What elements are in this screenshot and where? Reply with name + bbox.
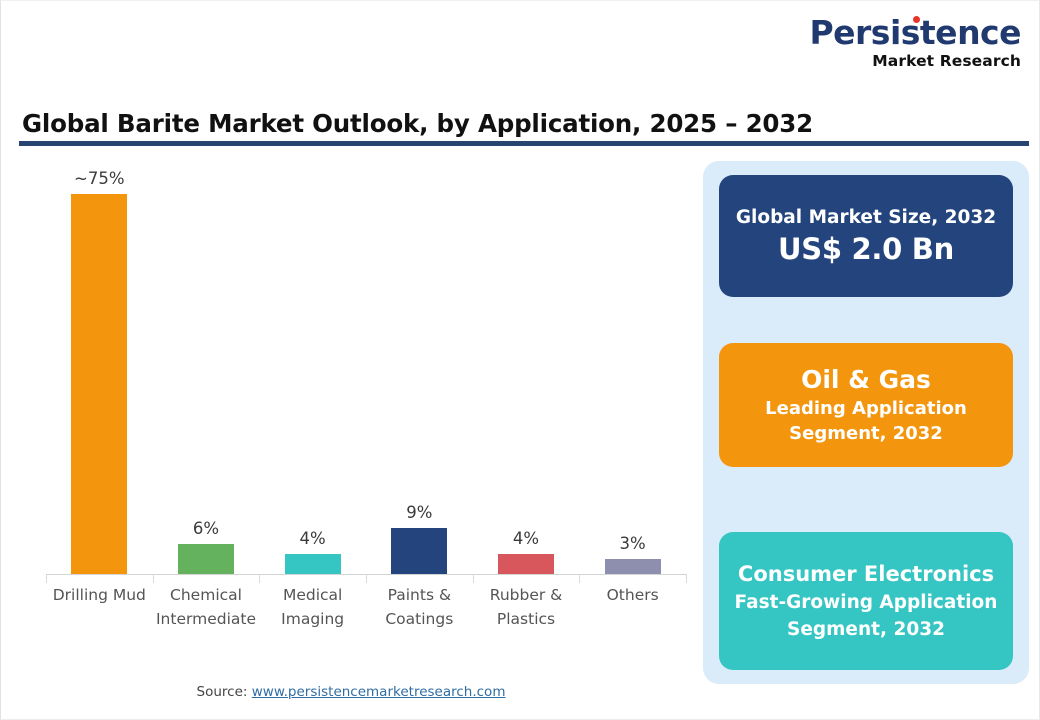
- card-0-line2: US$ 2.0 Bn: [778, 231, 954, 267]
- bar-value-label: 9%: [406, 503, 432, 522]
- plot-area: ~75%6%4%9%4%3%: [46, 169, 686, 574]
- x-axis-label-line: Plastics: [470, 607, 582, 631]
- source-prefix: Source:: [197, 684, 252, 700]
- bar-group: 3%: [579, 169, 686, 574]
- bar-value-label: ~75%: [74, 169, 125, 188]
- logo-subtitle: Market Research: [809, 52, 1021, 70]
- card-2-line3: Segment, 2032: [787, 616, 945, 643]
- bar-3: [285, 554, 341, 574]
- card-1-line2: Leading Application: [765, 396, 967, 421]
- x-axis-label-line: Paints &: [363, 583, 475, 607]
- card-fast-growing-application-segment: Consumer Electronics Fast-Growing Applic…: [719, 532, 1013, 670]
- bar-chart: ~75%6%4%9%4%3% Drilling MudChemicalInter…: [1, 151, 701, 651]
- x-axis-label: Others: [577, 583, 689, 607]
- x-axis-label-line: Rubber &: [470, 583, 582, 607]
- x-axis-tick: [366, 574, 367, 583]
- x-axis-label-line: Medical: [257, 583, 369, 607]
- x-axis-label: Paints &Coatings: [363, 583, 475, 631]
- company-logo: Persistence Market Research: [809, 15, 1021, 70]
- x-axis-label: ChemicalIntermediate: [150, 583, 262, 631]
- card-2-line2: Fast-Growing Application: [735, 589, 998, 616]
- bar-value-label: 4%: [300, 529, 326, 548]
- x-axis-label-line: Intermediate: [150, 607, 262, 631]
- bar-2: [178, 544, 234, 574]
- bar-group: 4%: [473, 169, 580, 574]
- x-axis-tick: [579, 574, 580, 583]
- card-1-line1: Oil & Gas: [801, 364, 931, 396]
- card-1-line3: Segment, 2032: [789, 421, 943, 446]
- x-axis-label-line: Drilling Mud: [43, 583, 155, 607]
- card-2-line1: Consumer Electronics: [738, 559, 994, 589]
- x-axis-label-line: Others: [577, 583, 689, 607]
- card-leading-application-segment: Oil & Gas Leading Application Segment, 2…: [719, 343, 1013, 467]
- title-underline-rule: [19, 141, 1029, 146]
- logo-brand-text: Persistence: [809, 15, 1021, 51]
- bar-group: 4%: [259, 169, 366, 574]
- x-axis-label: Rubber &Plastics: [470, 583, 582, 631]
- bar-6: [605, 559, 661, 574]
- x-axis-tick: [686, 574, 687, 583]
- source-link[interactable]: www.persistencemarketresearch.com: [252, 684, 506, 700]
- bar-value-label: 6%: [193, 519, 219, 538]
- bar-1: [71, 194, 127, 574]
- bar-value-label: 4%: [513, 529, 539, 548]
- x-axis-tick: [153, 574, 154, 583]
- x-axis-tick: [473, 574, 474, 583]
- x-axis-label-line: Chemical: [150, 583, 262, 607]
- source-caption: Source: www.persistencemarketresearch.co…: [1, 684, 701, 700]
- bar-group: 9%: [366, 169, 473, 574]
- x-axis-tick: [46, 574, 47, 583]
- card-0-line1: Global Market Size, 2032: [736, 205, 996, 231]
- x-axis-label: Drilling Mud: [43, 583, 155, 607]
- bar-5: [498, 554, 554, 574]
- bar-group: ~75%: [46, 169, 153, 574]
- bar-value-label: 3%: [620, 534, 646, 553]
- infographic-canvas: Persistence Market Research Global Barit…: [0, 0, 1040, 720]
- x-axis-label: MedicalImaging: [257, 583, 369, 631]
- x-axis-label-line: Imaging: [257, 607, 369, 631]
- x-axis-label-line: Coatings: [363, 607, 475, 631]
- bar-4: [391, 528, 447, 574]
- page-title: Global Barite Market Outlook, by Applica…: [22, 109, 813, 138]
- highlight-panel: Global Market Size, 2032 US$ 2.0 Bn Oil …: [703, 161, 1029, 684]
- bar-group: 6%: [153, 169, 260, 574]
- card-global-market-size: Global Market Size, 2032 US$ 2.0 Bn: [719, 175, 1013, 297]
- x-axis-tick: [259, 574, 260, 583]
